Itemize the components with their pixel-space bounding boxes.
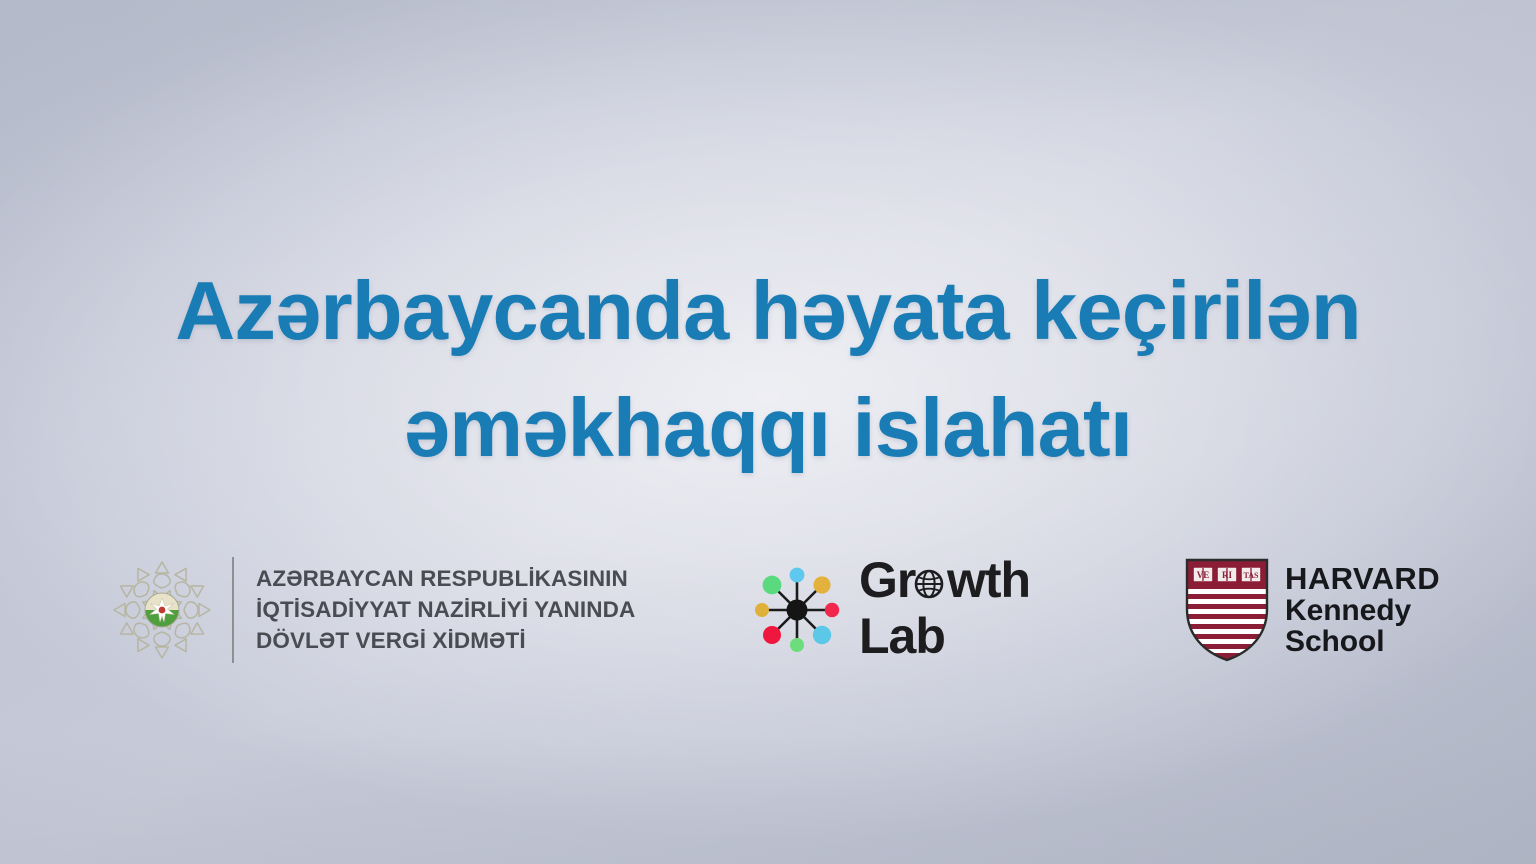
azerbaijan-state-emblem-rosette-icon xyxy=(110,558,214,662)
logo-bar: AZƏRBAYCAN RESPUBLİKASININ İQTİSADİYYAT … xyxy=(0,540,1536,680)
harvard-veritas-shield-icon: VE RI TAS xyxy=(1184,557,1270,663)
svg-text:VE: VE xyxy=(1197,570,1210,580)
harvard-line-2: Kennedy xyxy=(1285,595,1440,626)
logo-divider xyxy=(232,557,234,663)
page-title-line-2: əməkhaqqı islahatı xyxy=(0,369,1536,486)
svg-text:TAS: TAS xyxy=(1244,571,1260,580)
growth-lab-logo: Gr wth Lab xyxy=(751,554,1059,666)
harvard-kennedy-school-text: HARVARD Kennedy School xyxy=(1285,563,1440,658)
harvard-line-3: School xyxy=(1285,626,1440,657)
tax-service-logo: AZƏRBAYCAN RESPUBLİKASININ İQTİSADİYYAT … xyxy=(110,557,635,663)
globe-icon xyxy=(916,571,942,597)
svg-text:Lab: Lab xyxy=(859,610,945,664)
logo-slot-tax-service: AZƏRBAYCAN RESPUBLİKASININ İQTİSADİYYAT … xyxy=(110,557,670,663)
lab-word: Lab xyxy=(859,610,1059,666)
tax-service-line-2: İQTİSADİYYAT NAZİRLİYİ YANINDA xyxy=(256,595,635,625)
growth-word: Gr wth xyxy=(859,554,1059,610)
tax-service-text: AZƏRBAYCAN RESPUBLİKASININ İQTİSADİYYAT … xyxy=(256,564,635,656)
tax-service-line-1: AZƏRBAYCAN RESPUBLİKASININ xyxy=(256,564,635,594)
tax-service-line-3: DÖVLƏT VERGİ XİDMƏTİ xyxy=(256,626,635,656)
growth-lab-wordmark: Gr wth Lab xyxy=(859,554,1059,666)
harvard-line-1: HARVARD xyxy=(1285,563,1440,595)
svg-text:Gr: Gr xyxy=(859,554,916,608)
svg-text:wth: wth xyxy=(946,554,1030,608)
svg-text:RI: RI xyxy=(1222,570,1232,580)
logo-slot-growth-lab: Gr wth Lab xyxy=(670,554,1140,666)
page-title: Azərbaycanda həyata keçirilən əməkhaqqı … xyxy=(0,252,1536,486)
logo-slot-harvard-kennedy: VE RI TAS xyxy=(1140,557,1440,663)
harvard-kennedy-school-logo: VE RI TAS xyxy=(1184,557,1440,663)
page-title-line-1: Azərbaycanda həyata keçirilən xyxy=(0,252,1536,369)
growth-lab-network-node-icon xyxy=(751,564,843,656)
title-slide: Azərbaycanda həyata keçirilən əməkhaqqı … xyxy=(0,0,1536,864)
